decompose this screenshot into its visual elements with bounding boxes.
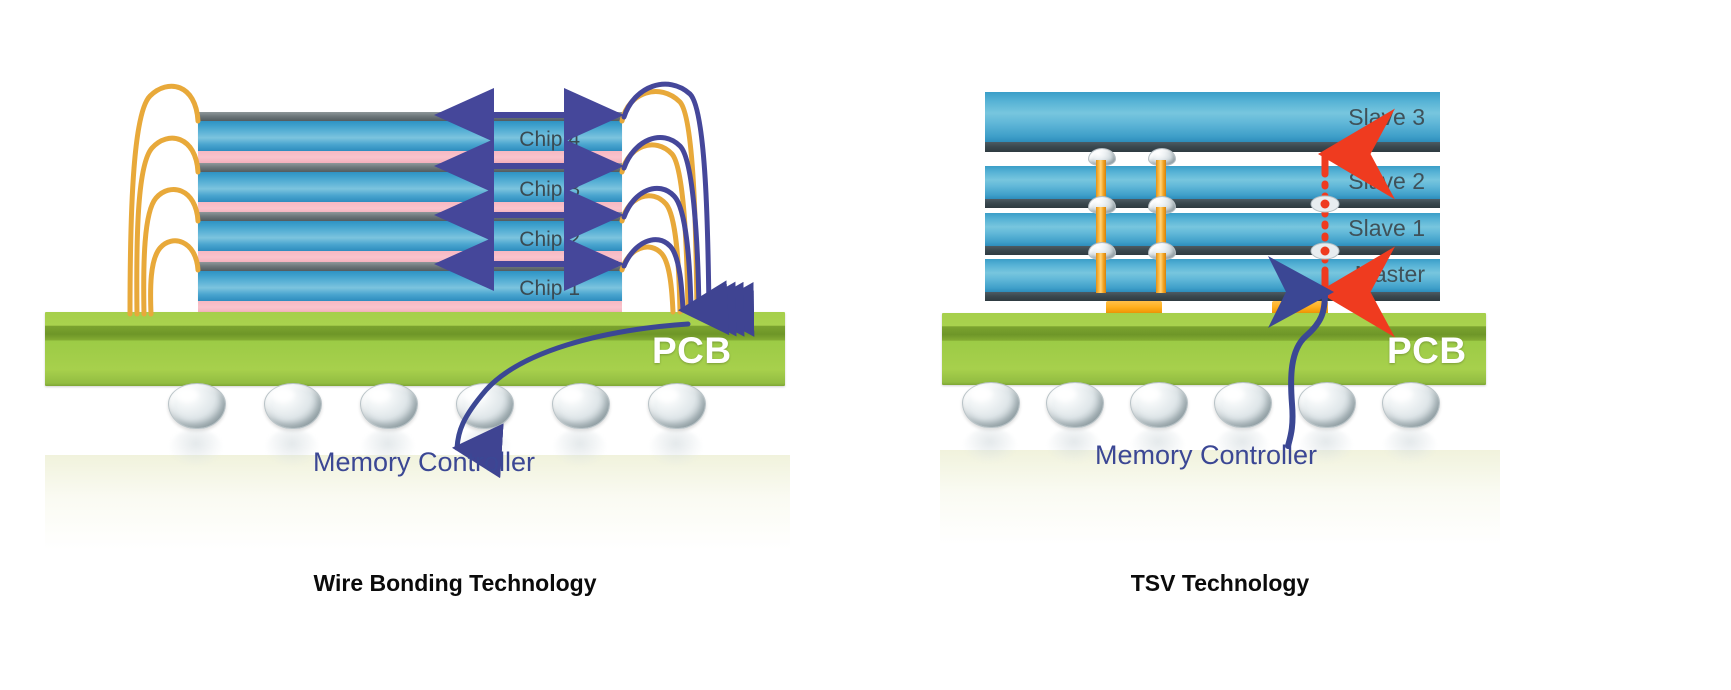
solder-ball (264, 383, 322, 429)
solder-ball (1382, 382, 1440, 428)
die-top-metal-3 (198, 163, 622, 172)
solder-ball-reflection (1384, 428, 1436, 462)
pcb-label-right: PCB (1387, 330, 1467, 372)
bond-wires-right-purple (624, 84, 709, 310)
panel-caption-wire-bonding: Wire Bonding Technology (165, 570, 745, 597)
solder-ball-reflection (964, 428, 1016, 462)
die-base-slave-3 (985, 142, 1440, 152)
pcb-label-left: PCB (652, 330, 732, 372)
solder-ball-reflection (170, 429, 222, 465)
solder-ball (552, 383, 610, 429)
memory-controller-label-left: Memory Controller (313, 447, 535, 478)
solder-ball (1214, 382, 1272, 428)
bond-wires-left-gold (130, 86, 198, 314)
die-label-slave-1: Slave 1 (1240, 215, 1425, 242)
solder-ball (962, 382, 1020, 428)
memory-controller-label-right: Memory Controller (1095, 440, 1317, 471)
tsv-via (1096, 253, 1106, 293)
die-base-slave-1 (985, 246, 1440, 255)
solder-ball-reflection (650, 429, 702, 465)
solder-ball-reflection (266, 429, 318, 465)
tsv-via (1156, 160, 1166, 200)
tsv-via (1096, 207, 1106, 247)
tsv-panel: Slave 3 Slave 2 Slave 1 Master PCB (860, 0, 1731, 690)
die-label-chip-4: Chip 4 (400, 128, 580, 152)
solder-ball-reflection (554, 429, 606, 465)
solder-ball (1298, 382, 1356, 428)
wire-bonding-panel: Chip 4 Chip 3 Chip 2 Chip 1 PCB (0, 0, 870, 690)
solder-ball-reflection (1048, 428, 1100, 462)
panel-caption-tsv: TSV Technology (955, 570, 1485, 597)
tsv-via (1156, 253, 1166, 293)
die-top-metal-4 (198, 112, 622, 121)
die-top-metal-1 (198, 262, 622, 271)
die-base-slave-2 (985, 199, 1440, 208)
die-label-chip-3: Chip 3 (400, 178, 580, 202)
solder-ball (648, 383, 706, 429)
bond-wires-right-gold (622, 92, 697, 312)
tsv-via (1096, 160, 1106, 200)
die-base-master (985, 292, 1440, 301)
solder-ball (168, 383, 226, 429)
solder-ball (1046, 382, 1104, 428)
die-label-chip-2: Chip 2 (400, 228, 580, 252)
tsv-via (1156, 207, 1166, 247)
solder-ball (1130, 382, 1188, 428)
solder-ball (360, 383, 418, 429)
die-label-slave-2: Slave 2 (1240, 168, 1425, 195)
die-label-slave-3: Slave 3 (1240, 104, 1425, 131)
die-label-master: Master (1240, 261, 1425, 288)
solder-ball (456, 383, 514, 429)
die-top-metal-2 (198, 212, 622, 221)
die-label-chip-1: Chip 1 (400, 277, 580, 301)
